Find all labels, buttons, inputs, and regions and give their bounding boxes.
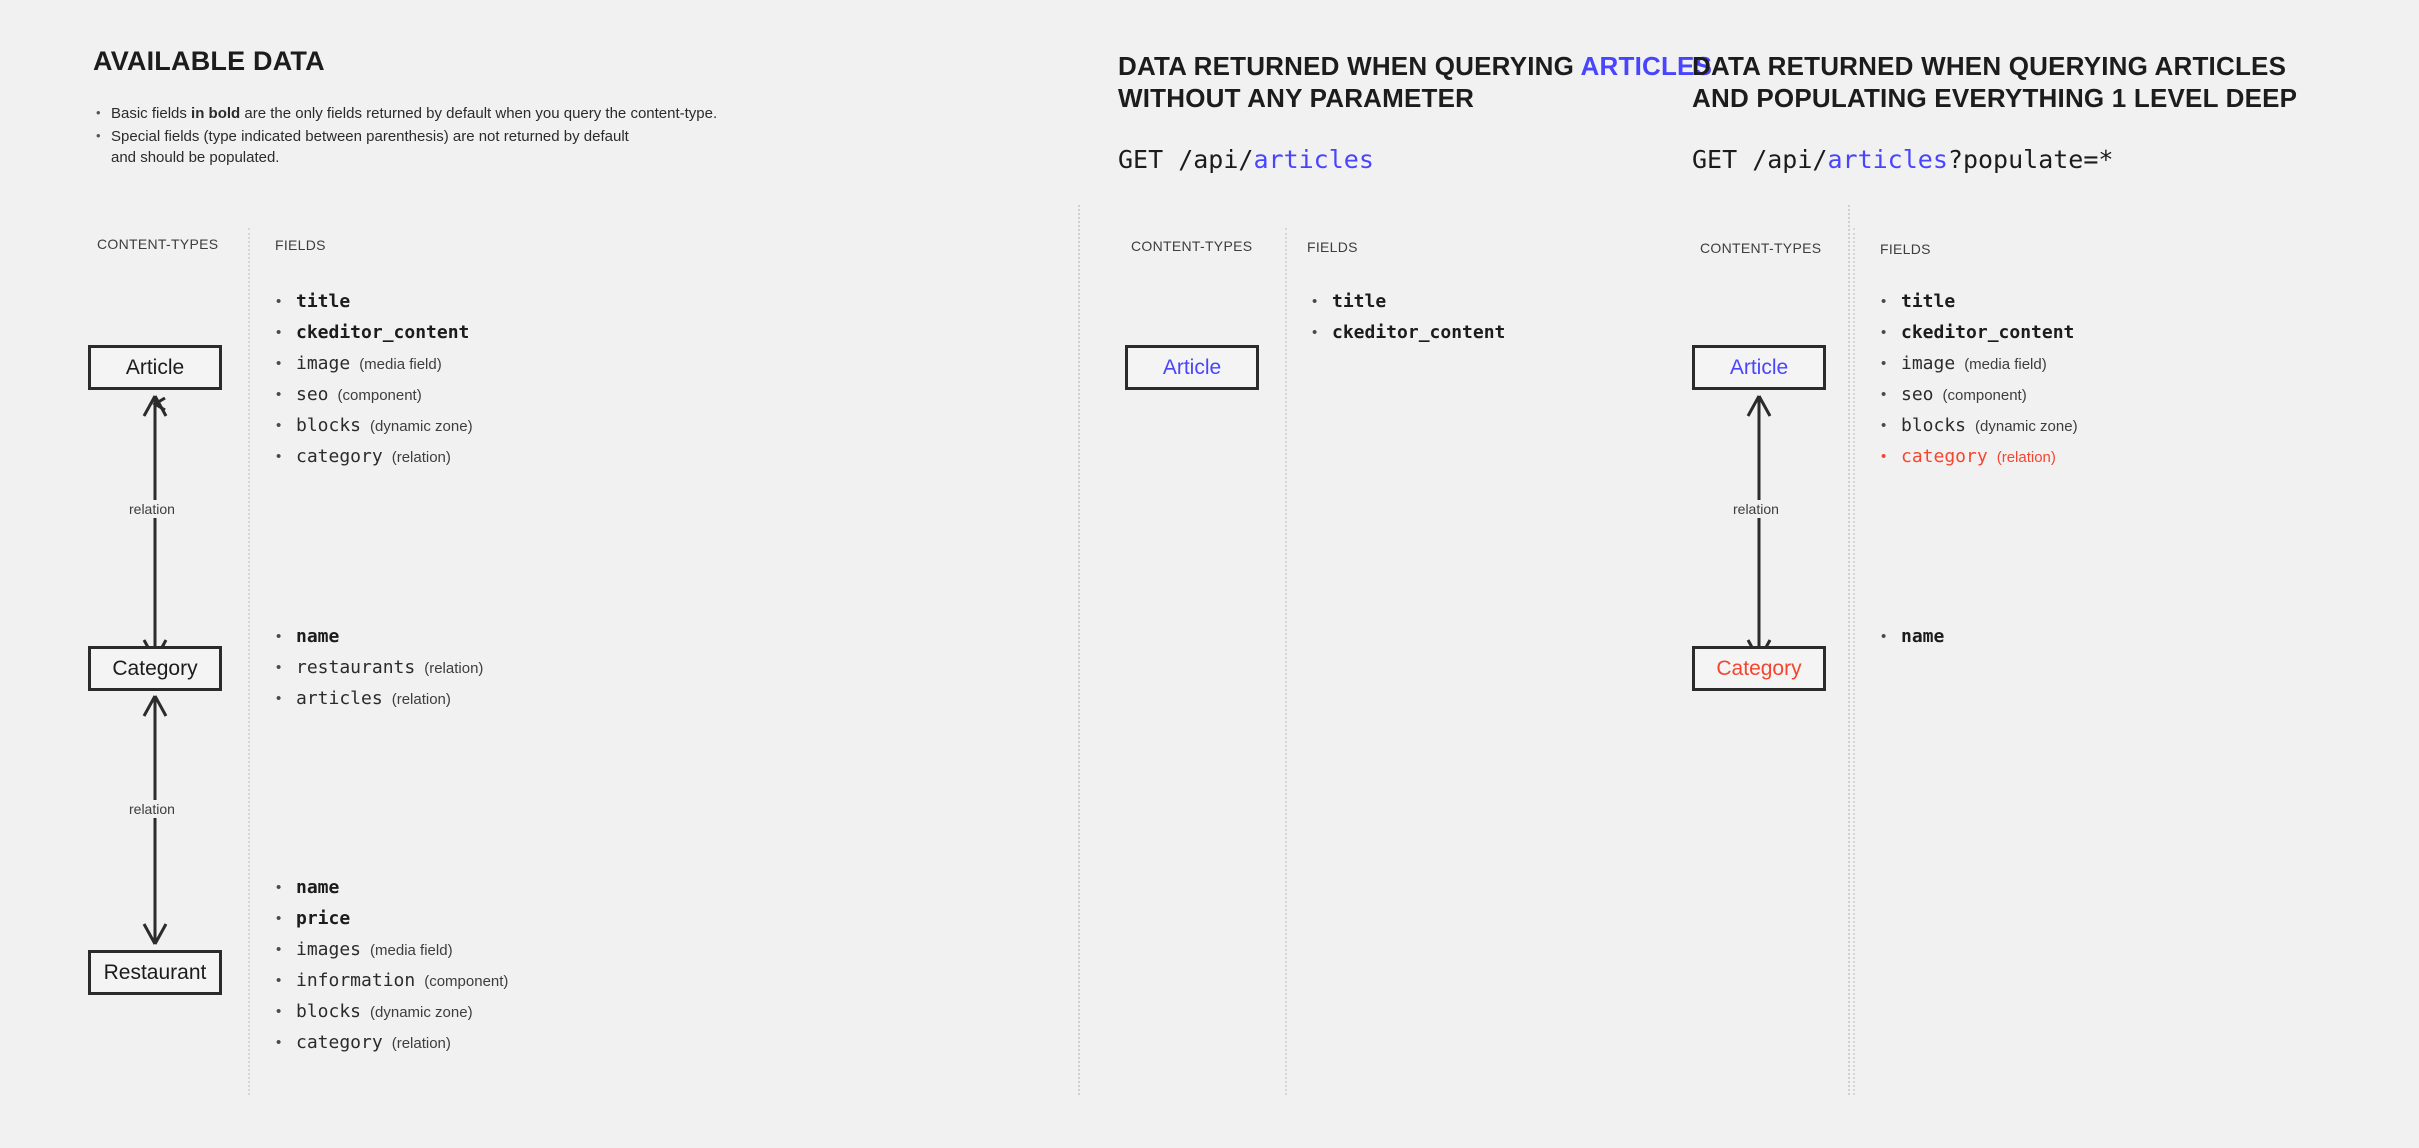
field-type: (dynamic zone) <box>370 418 473 435</box>
entity-box-restaurant[interactable]: Restaurant <box>88 950 222 995</box>
field-name: image <box>296 353 350 374</box>
field-name: title <box>1901 291 1955 312</box>
field-name: restaurants <box>296 657 415 678</box>
relation-arrow-category-restaurant <box>130 690 180 950</box>
endpoint-prefix: GET /api/ <box>1692 145 1827 174</box>
field-name: blocks <box>296 1001 361 1022</box>
inner-divider <box>1285 228 1287 1095</box>
field-item: category(relation) <box>1877 445 2078 470</box>
field-list-article: titleckeditor_contentimage(media field)s… <box>272 290 473 476</box>
column-label-content-types: CONTENT-TYPES <box>1700 240 1821 256</box>
field-name: category <box>296 446 383 467</box>
field-item: name <box>272 625 483 650</box>
column-label-content-types: CONTENT-TYPES <box>1131 238 1252 254</box>
field-item: category(relation) <box>272 1031 508 1056</box>
field-name: blocks <box>1901 415 1966 436</box>
column-label-fields: FIELDS <box>275 237 326 253</box>
panel3-title-line1: DATA RETURNED WHEN QUERYING ARTICLES <box>1692 51 2286 81</box>
field-name: name <box>1901 626 1944 647</box>
legend-note-1: Basic fields in bold are the only fields… <box>93 103 853 124</box>
field-item: articles(relation) <box>272 687 483 712</box>
field-name: name <box>296 626 339 647</box>
relation-arrow-article-category <box>1734 390 1784 666</box>
endpoint-url: GET /api/articles?populate=* <box>1692 145 2113 174</box>
field-type: (component) <box>338 387 422 404</box>
column-label-fields: FIELDS <box>1880 241 1931 257</box>
entity-label: Category <box>112 657 197 681</box>
relation-label-article-category: relation <box>124 500 180 518</box>
field-item: title <box>1877 290 2078 315</box>
panel-available-data: AVAILABLE DATA Basic fields in bold are … <box>0 0 1080 1148</box>
field-name: ckeditor_content <box>1332 322 1505 343</box>
field-list-restaurant: namepriceimages(media field)information(… <box>272 876 508 1062</box>
column-label-content-types: CONTENT-TYPES <box>97 236 218 252</box>
field-list-article: titleckeditor_contentimage(media field)s… <box>1877 290 2078 476</box>
field-name: blocks <box>296 415 361 436</box>
entity-box-article[interactable]: Article <box>1692 345 1826 390</box>
panel2-title-line2: WITHOUT ANY PARAMETER <box>1118 83 1474 113</box>
field-name: category <box>296 1032 383 1053</box>
relation-arrow-article-category <box>130 390 180 666</box>
field-item: image(media field) <box>272 352 473 377</box>
field-name: seo <box>1901 384 1934 405</box>
panel3-title-line2: AND POPULATING EVERYTHING 1 LEVEL DEEP <box>1692 83 2297 113</box>
field-type: (relation) <box>392 691 451 708</box>
field-name: price <box>296 908 350 929</box>
relation-label-article-category: relation <box>1728 500 1784 518</box>
field-name: name <box>296 877 339 898</box>
inner-divider <box>248 228 250 1095</box>
field-type: (relation) <box>392 1035 451 1052</box>
relation-label-category-restaurant: relation <box>124 800 180 818</box>
field-type: (media field) <box>370 942 453 959</box>
field-type: (component) <box>1943 387 2027 404</box>
endpoint-resource: articles <box>1253 145 1373 174</box>
field-item: name <box>272 876 508 901</box>
field-list-category: namerestaurants(relation)articles(relati… <box>272 625 483 718</box>
entity-label: Article <box>126 356 184 380</box>
field-name: information <box>296 970 415 991</box>
field-item: information(component) <box>272 969 508 994</box>
field-item: category(relation) <box>272 445 473 470</box>
field-item: title <box>272 290 473 315</box>
field-name: ckeditor_content <box>296 322 469 343</box>
field-item: ckeditor_content <box>1877 321 2078 346</box>
field-name: articles <box>296 688 383 709</box>
field-name: title <box>1332 291 1386 312</box>
field-type: (relation) <box>392 449 451 466</box>
field-item: title <box>1308 290 1505 315</box>
field-item: name <box>1877 625 1944 650</box>
field-name: image <box>1901 353 1955 374</box>
field-name: ckeditor_content <box>1901 322 2074 343</box>
field-name: title <box>296 291 350 312</box>
column-label-fields: FIELDS <box>1307 239 1358 255</box>
field-type: (media field) <box>1964 356 2047 373</box>
field-item: price <box>272 907 508 932</box>
page-title: AVAILABLE DATA <box>93 45 325 77</box>
entity-box-category[interactable]: Category <box>88 646 222 691</box>
field-list-category: name <box>1877 625 1944 656</box>
field-type: (relation) <box>424 660 483 677</box>
field-type: (dynamic zone) <box>370 1004 473 1021</box>
field-list-article: titleckeditor_content <box>1308 290 1505 352</box>
field-item: blocks(dynamic zone) <box>1877 414 2078 439</box>
entity-label: Restaurant <box>104 961 207 985</box>
endpoint-resource: articles <box>1827 145 1947 174</box>
field-type: (relation) <box>1997 449 2056 466</box>
field-type: (dynamic zone) <box>1975 418 2078 435</box>
field-item: seo(component) <box>272 383 473 408</box>
endpoint-suffix: ?populate=* <box>1948 145 2114 174</box>
field-item: seo(component) <box>1877 383 2078 408</box>
entity-label: Article <box>1163 356 1221 380</box>
field-type: (media field) <box>359 356 442 373</box>
field-item: image(media field) <box>1877 352 2078 377</box>
entity-box-article[interactable]: Article <box>88 345 222 390</box>
panel-query-no-parameter: DATA RETURNED WHEN QUERYING ARTICLES WIT… <box>1080 0 1700 1148</box>
field-name: category <box>1901 446 1988 467</box>
panel2-title-line1-a: DATA RETURNED WHEN QUERYING <box>1118 51 1581 81</box>
field-item: blocks(dynamic zone) <box>272 1000 508 1025</box>
entity-box-article[interactable]: Article <box>1125 345 1259 390</box>
endpoint-url: GET /api/articles <box>1118 145 1374 174</box>
inner-divider <box>1853 228 1855 1095</box>
field-item: blocks(dynamic zone) <box>272 414 473 439</box>
field-item: images(media field) <box>272 938 508 963</box>
field-item: ckeditor_content <box>272 321 473 346</box>
entity-box-category[interactable]: Category <box>1692 646 1826 691</box>
field-type: (component) <box>424 973 508 990</box>
field-item: restaurants(relation) <box>272 656 483 681</box>
panel-query-populate-all: DATA RETURNED WHEN QUERYING ARTICLES AND… <box>1700 0 2419 1148</box>
legend-notes: Basic fields in bold are the only fields… <box>93 103 853 170</box>
legend-note-2: Special fields (type indicated between p… <box>93 126 853 168</box>
field-name: images <box>296 939 361 960</box>
field-item: ckeditor_content <box>1308 321 1505 346</box>
endpoint-prefix: GET /api/ <box>1118 145 1253 174</box>
entity-label: Article <box>1730 356 1788 380</box>
field-name: seo <box>296 384 329 405</box>
entity-label: Category <box>1716 657 1801 681</box>
